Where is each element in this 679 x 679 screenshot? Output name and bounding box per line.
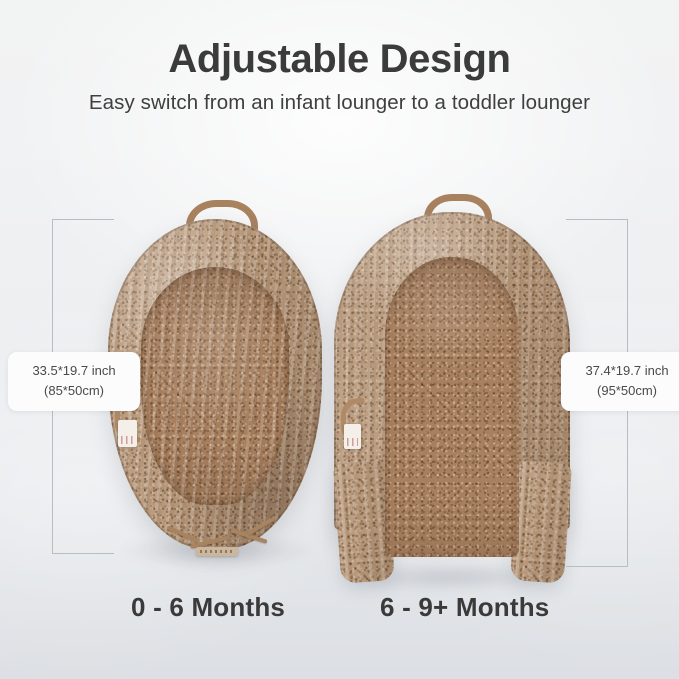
bumper-leg-right <box>510 460 572 583</box>
size-badge-toddler: 37.4*19.7 inch (95*50cm) <box>561 352 679 411</box>
care-label-right <box>344 424 361 449</box>
size-imperial-infant: 33.5*19.7 inch <box>32 363 115 378</box>
age-caption-infant: 0 - 6 Months <box>131 592 285 623</box>
care-label-left <box>118 420 137 447</box>
size-metric-toddler: (95*50cm) <box>572 381 679 401</box>
fabric-tag-left <box>196 547 238 556</box>
bracket-arm-top <box>566 219 628 220</box>
pod-mattress-left <box>141 267 289 505</box>
infographic-canvas: Adjustable Design Easy switch from an in… <box>0 0 679 679</box>
bracket-arm-top <box>52 219 114 220</box>
page-title: Adjustable Design <box>0 38 679 81</box>
size-badge-infant: 33.5*19.7 inch (85*50cm) <box>8 352 140 411</box>
size-imperial-toddler: 37.4*19.7 inch <box>585 363 668 378</box>
bracket-arm-bottom <box>52 553 114 554</box>
age-caption-toddler: 6 - 9+ Months <box>380 592 549 623</box>
size-metric-infant: (85*50cm) <box>19 381 129 401</box>
product-image-infant-lounger <box>108 219 322 549</box>
heading-block: Adjustable Design Easy switch from an in… <box>0 38 679 115</box>
page-subtitle: Easy switch from an infant lounger to a … <box>0 91 679 115</box>
pod-mattress-right <box>385 257 519 557</box>
bracket-arm-bottom <box>566 566 628 567</box>
product-image-toddler-lounger <box>334 212 570 582</box>
